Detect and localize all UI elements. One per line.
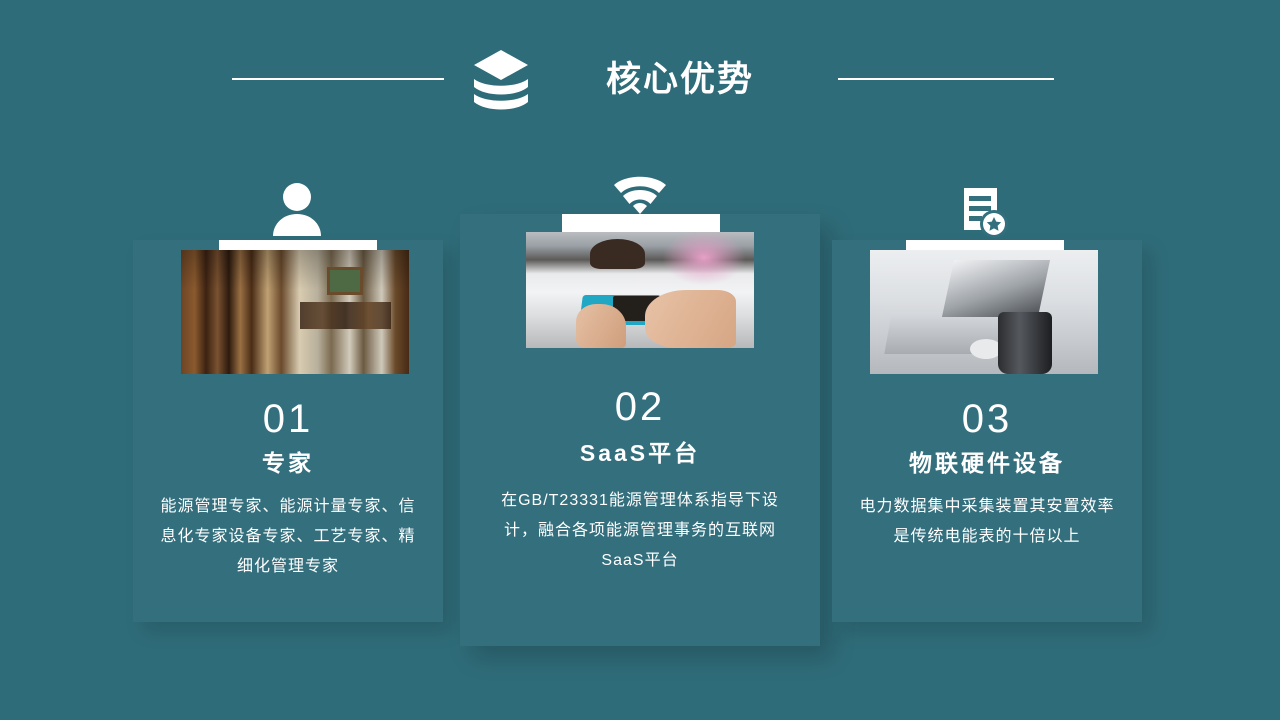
header-divider-right bbox=[838, 78, 1054, 80]
card-2-image bbox=[526, 232, 754, 348]
card-3-image bbox=[870, 250, 1098, 374]
person-icon bbox=[271, 182, 323, 236]
card-description: 在GB/T23331能源管理体系指导下设计，融合各项能源管理事务的互联网SaaS… bbox=[488, 486, 792, 576]
card-number: 02 bbox=[460, 386, 820, 428]
layers-stack-icon bbox=[470, 48, 532, 114]
card-number: 01 bbox=[133, 398, 443, 440]
header: 核心优势 bbox=[0, 40, 1280, 120]
card-subtitle: 物联硬件设备 bbox=[832, 448, 1142, 478]
card-subtitle: 专家 bbox=[133, 448, 443, 478]
header-divider-left bbox=[232, 78, 444, 80]
card-description: 电力数据集中采集装置其安置效率是传统电能表的十倍以上 bbox=[852, 492, 1122, 552]
card-1-image bbox=[181, 250, 409, 374]
page-title: 核心优势 bbox=[560, 54, 800, 106]
card-description: 能源管理专家、能源计量专家、信息化专家设备专家、工艺专家、精细化管理专家 bbox=[153, 492, 423, 582]
card-number: 03 bbox=[832, 398, 1142, 440]
slide-root: 核心优势 01 专家 能源管理专家、能源计量专家、信息化专家设备专家、工艺专家、 bbox=[0, 0, 1280, 720]
card-subtitle: SaaS平台 bbox=[460, 438, 820, 468]
certificate-star-icon bbox=[957, 186, 1009, 240]
wifi-icon bbox=[612, 172, 668, 216]
